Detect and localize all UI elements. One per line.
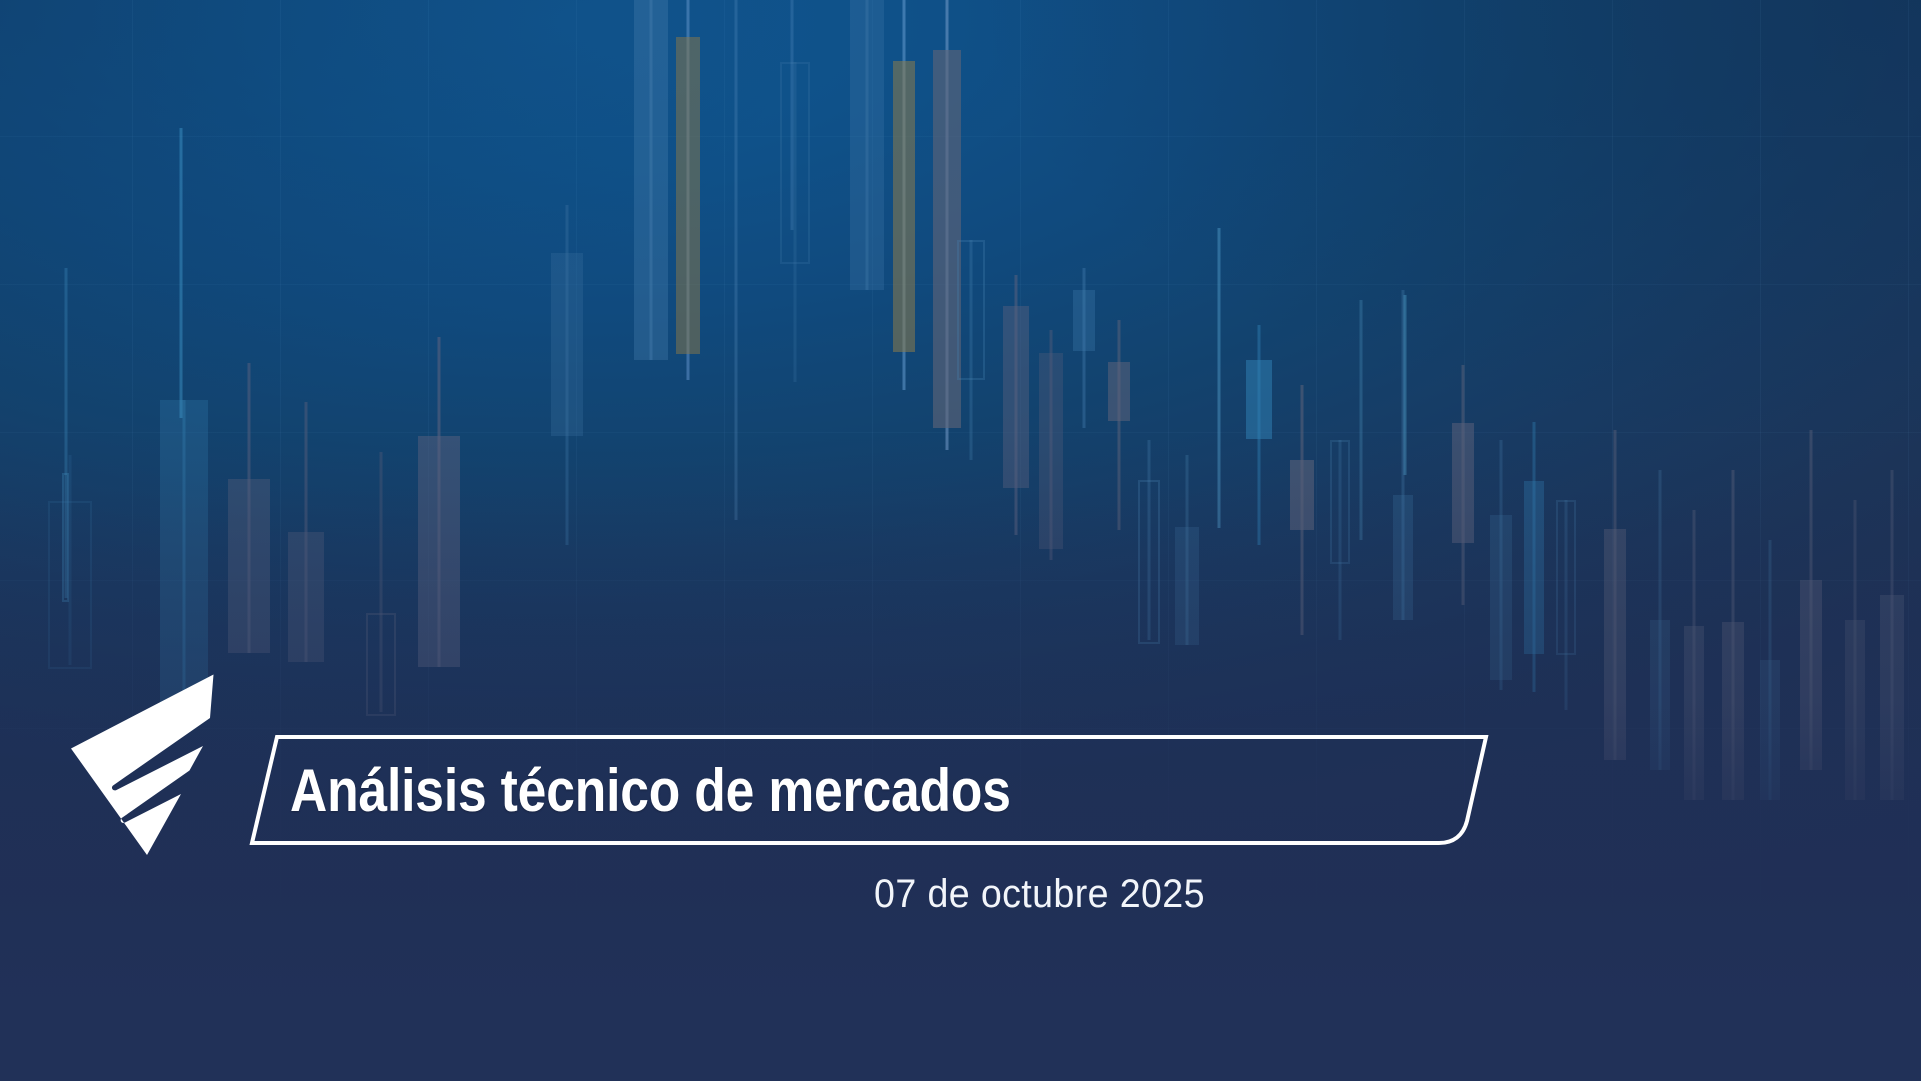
fidelitas-wing-logo-icon [63,672,228,858]
date-label: 07 de octubre 2025 [58,872,1864,917]
background-vertical-fade [0,0,1921,1081]
banner-slide: Análisis técnico de mercados 07 de octub… [0,0,1921,1081]
page-title: Análisis técnico de mercados [290,730,1011,850]
date-text: 07 de octubre 2025 [874,872,1205,917]
title-banner: Análisis técnico de mercados [205,730,1490,850]
brand-logo[interactable] [63,672,228,858]
